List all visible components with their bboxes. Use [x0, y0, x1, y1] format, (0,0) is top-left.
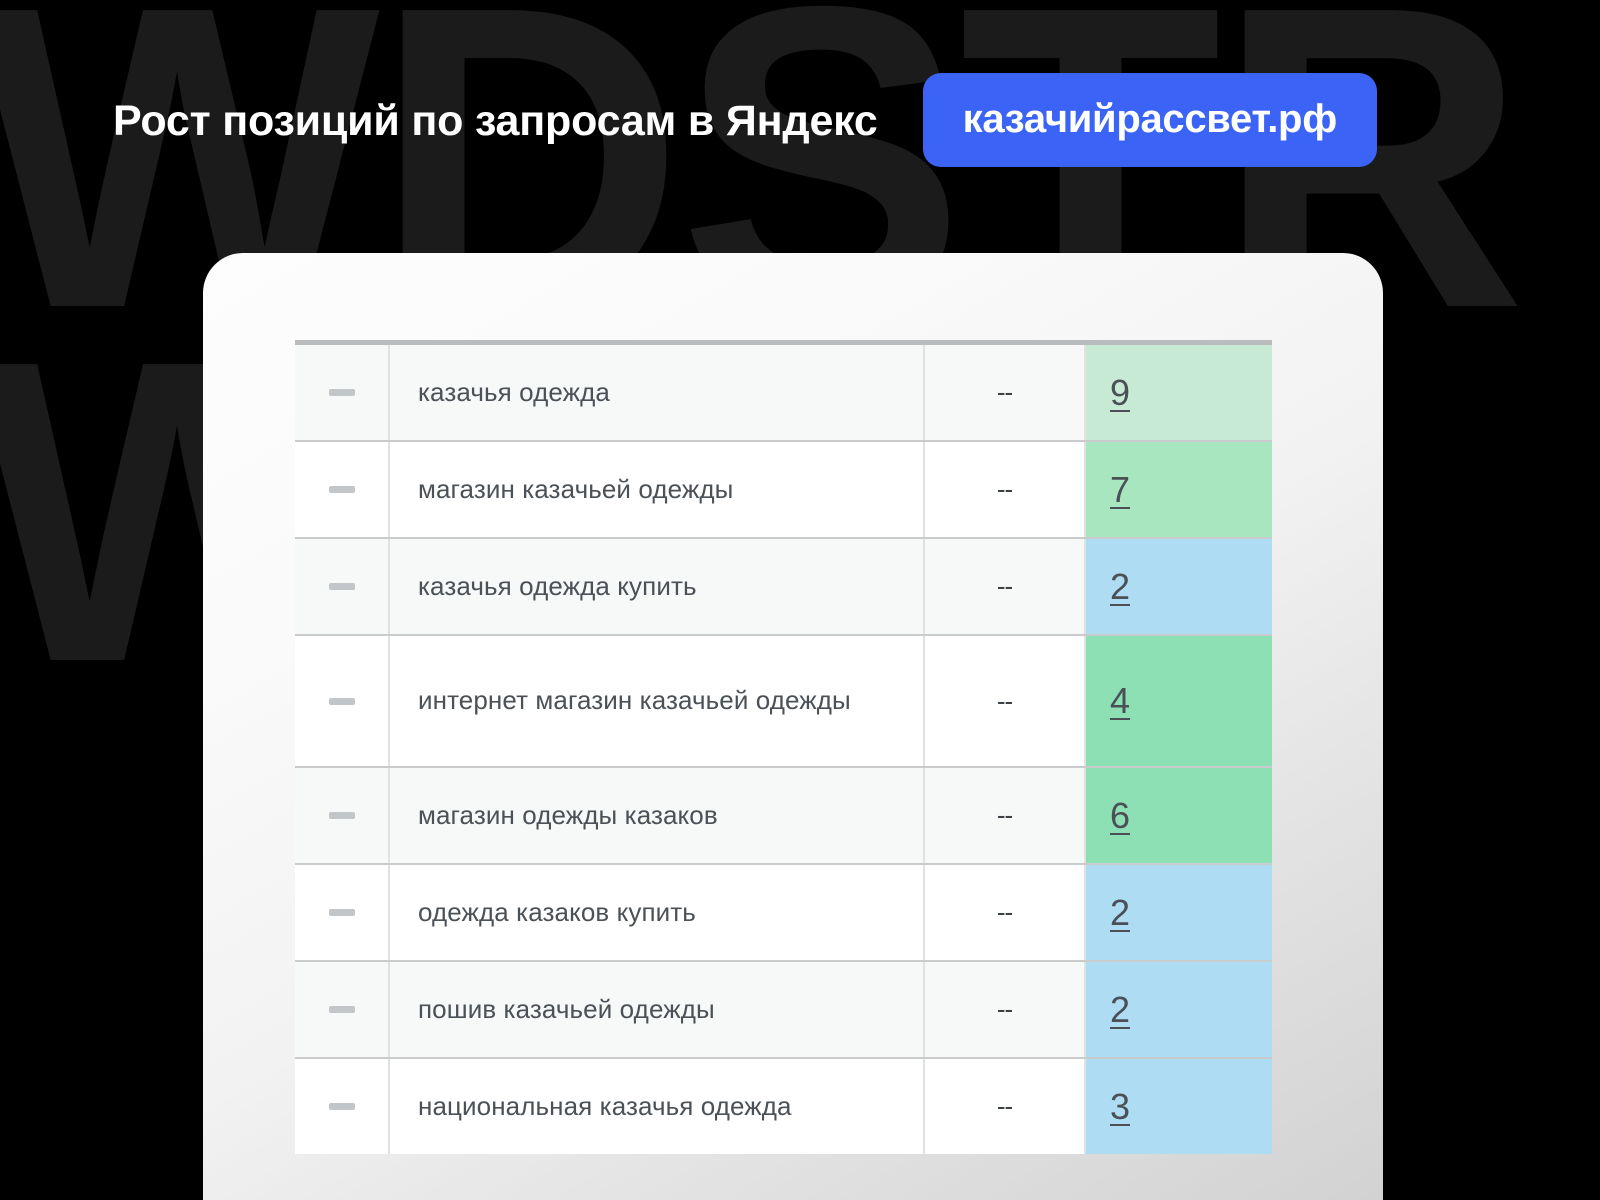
previous-position-cell: -- [925, 962, 1086, 1057]
table-row[interactable]: национальная казачья одежда--3 [295, 1059, 1272, 1154]
query-text: магазин одежды казаков [418, 798, 718, 833]
table-row[interactable]: магазин одежды казаков--6 [295, 768, 1272, 865]
header-bar: Рост позиций по запросам в Яндекс казачи… [0, 0, 1600, 240]
current-position-cell: 9 [1086, 345, 1272, 440]
position-link[interactable]: 9 [1110, 375, 1130, 411]
current-position-cell: 2 [1086, 539, 1272, 634]
drag-handle-dash-icon [329, 698, 355, 705]
current-position-cell: 6 [1086, 768, 1272, 863]
previous-position-cell: -- [925, 442, 1086, 537]
query-cell: казачья одежда купить [390, 539, 925, 634]
row-handle-cell[interactable] [295, 539, 390, 634]
position-link[interactable]: 6 [1110, 798, 1130, 834]
row-handle-cell[interactable] [295, 345, 390, 440]
drag-handle-dash-icon [329, 1103, 355, 1110]
row-handle-cell[interactable] [295, 865, 390, 960]
query-cell: пошив казачьей одежды [390, 962, 925, 1057]
position-link[interactable]: 4 [1110, 683, 1130, 719]
screenshot-card: казачья одежда--9магазин казачьей одежды… [203, 253, 1383, 1200]
query-text: интернет магазин казачьей одежды [418, 683, 851, 718]
query-cell: интернет магазин казачьей одежды [390, 636, 925, 766]
row-handle-cell[interactable] [295, 636, 390, 766]
query-cell: одежда казаков купить [390, 865, 925, 960]
drag-handle-dash-icon [329, 389, 355, 396]
row-handle-cell[interactable] [295, 1059, 390, 1154]
current-position-cell: 2 [1086, 865, 1272, 960]
position-link[interactable]: 3 [1110, 1089, 1130, 1125]
drag-handle-dash-icon [329, 812, 355, 819]
current-position-cell: 7 [1086, 442, 1272, 537]
table-row[interactable]: пошив казачьей одежды--2 [295, 962, 1272, 1059]
position-link[interactable]: 2 [1110, 895, 1130, 931]
table-row[interactable]: магазин казачьей одежды--7 [295, 442, 1272, 539]
current-position-cell: 2 [1086, 962, 1272, 1057]
query-text: национальная казачья одежда [418, 1089, 792, 1124]
query-text: казачья одежда [418, 375, 610, 410]
query-text: казачья одежда купить [418, 569, 697, 604]
page-title: Рост позиций по запросам в Яндекс [113, 100, 878, 143]
query-text: одежда казаков купить [418, 895, 696, 930]
table-row[interactable]: казачья одежда--9 [295, 345, 1272, 442]
domain-badge[interactable]: казачийрассвет.рф [923, 73, 1377, 167]
rankings-table: казачья одежда--9магазин казачьей одежды… [295, 340, 1272, 1154]
previous-position-cell: -- [925, 865, 1086, 960]
previous-position-cell: -- [925, 345, 1086, 440]
current-position-cell: 3 [1086, 1059, 1272, 1154]
query-text: пошив казачьей одежды [418, 992, 715, 1027]
row-handle-cell[interactable] [295, 962, 390, 1057]
position-link[interactable]: 2 [1110, 992, 1130, 1028]
screenshot-root: WDSTR WWR Рост позиций по запросам в Янд… [0, 0, 1600, 1200]
row-handle-cell[interactable] [295, 768, 390, 863]
query-cell: магазин казачьей одежды [390, 442, 925, 537]
drag-handle-dash-icon [329, 486, 355, 493]
previous-position-cell: -- [925, 636, 1086, 766]
query-cell: национальная казачья одежда [390, 1059, 925, 1154]
row-handle-cell[interactable] [295, 442, 390, 537]
query-cell: казачья одежда [390, 345, 925, 440]
previous-position-cell: -- [925, 1059, 1086, 1154]
previous-position-cell: -- [925, 768, 1086, 863]
table-row[interactable]: казачья одежда купить--2 [295, 539, 1272, 636]
drag-handle-dash-icon [329, 1006, 355, 1013]
position-link[interactable]: 7 [1110, 472, 1130, 508]
table-row[interactable]: одежда казаков купить--2 [295, 865, 1272, 962]
query-text: магазин казачьей одежды [418, 472, 733, 507]
drag-handle-dash-icon [329, 583, 355, 590]
previous-position-cell: -- [925, 539, 1086, 634]
table-row[interactable]: интернет магазин казачьей одежды--4 [295, 636, 1272, 768]
query-cell: магазин одежды казаков [390, 768, 925, 863]
drag-handle-dash-icon [329, 909, 355, 916]
current-position-cell: 4 [1086, 636, 1272, 766]
position-link[interactable]: 2 [1110, 569, 1130, 605]
